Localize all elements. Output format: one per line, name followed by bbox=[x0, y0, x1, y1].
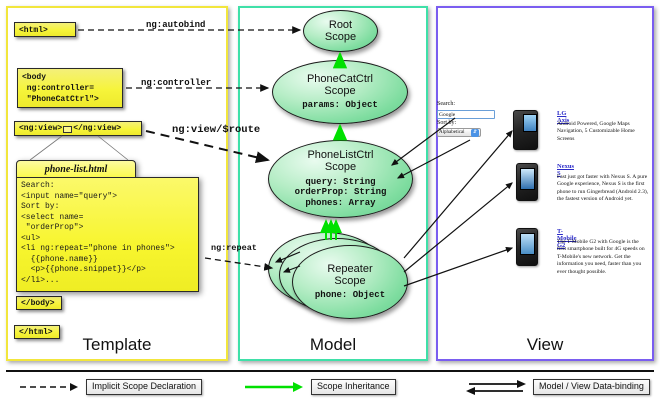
note-code: Search: <input name="query"> Sort by: <s… bbox=[16, 177, 199, 292]
search-label: Search: bbox=[437, 101, 499, 109]
legend-label-inheritance: Scope Inheritance bbox=[311, 379, 396, 395]
phone-snippet-0: Android Powered, Google Maps Navigation,… bbox=[557, 121, 649, 143]
phone-snippet-1: Fast just got faster with Nexus S. A pur… bbox=[557, 174, 649, 204]
code-tag-html-close: </html> bbox=[14, 325, 60, 339]
legend-item-implicit: Implicit Scope Declaration bbox=[18, 378, 202, 396]
chevron-updown-icon: ⇵ bbox=[471, 129, 479, 137]
scope-phonecatctrl: PhoneCatCtrl Scope params: Object bbox=[272, 60, 408, 124]
legend-divider bbox=[6, 370, 654, 372]
phone-snippet-2: The T-Mobile G2 with Google is the first… bbox=[557, 239, 649, 276]
scope-repeater-props: phone: Object bbox=[315, 290, 385, 301]
column-label-view: View bbox=[438, 335, 652, 355]
scope-phonelistctrl-title-2: Scope bbox=[325, 161, 356, 173]
scope-phonelistctrl-title-1: PhoneListCtrl bbox=[307, 149, 373, 161]
ng-view-slot-placeholder bbox=[63, 126, 72, 133]
connector-label-ng-controller: ng:controller bbox=[141, 78, 211, 88]
connector-label-ng-repeat: ng:repeat bbox=[211, 243, 257, 253]
note-title: phone-list.html bbox=[16, 160, 136, 178]
column-label-model: Model bbox=[240, 335, 426, 355]
scope-root-title-2: Scope bbox=[325, 31, 356, 43]
scope-repeater-title-1: Repeater bbox=[327, 263, 372, 275]
solid-arrow-icon bbox=[243, 379, 305, 395]
scope-repeater: Repeater Scope phone: Object bbox=[292, 245, 408, 319]
scope-repeater-stack: Repeater Scope phone: Object bbox=[268, 232, 416, 320]
scope-phonelistctrl: PhoneListCtrl Scope query: String orderP… bbox=[268, 140, 413, 218]
code-tag-body-close: </body> bbox=[16, 296, 62, 310]
legend-item-databinding: Model / View Data-binding bbox=[465, 378, 650, 396]
ng-view-open-label: <ng:view> bbox=[19, 124, 62, 135]
code-tag-html-open: <html> bbox=[14, 22, 76, 37]
legend-item-inheritance: Scope Inheritance bbox=[243, 378, 396, 396]
phone-thumbnail-2 bbox=[516, 228, 538, 266]
double-arrow-icon bbox=[465, 379, 527, 395]
view-search-widget: Search: Google Sort by: Alphabetical ⇵ bbox=[437, 101, 499, 137]
connector-label-ng-autobind: ng:autobind bbox=[146, 20, 205, 30]
sort-label: Sort by: bbox=[437, 120, 499, 128]
legend-label-databinding: Model / View Data-binding bbox=[533, 379, 650, 395]
scope-root-title-1: Root bbox=[329, 19, 352, 31]
phone-thumbnail-0 bbox=[513, 110, 538, 150]
scope-root: Root Scope bbox=[303, 10, 378, 52]
scope-phonecatctrl-title-2: Scope bbox=[324, 85, 355, 97]
scope-phonecatctrl-props: params: Object bbox=[302, 100, 378, 111]
connector-label-ng-view-route: ng:view/$route bbox=[172, 124, 260, 136]
dashed-arrow-icon bbox=[18, 379, 80, 395]
code-tag-ng-view: <ng:view></ng:view> bbox=[14, 121, 142, 136]
legend-label-implicit: Implicit Scope Declaration bbox=[86, 379, 202, 395]
ng-view-close-label: </ng:view> bbox=[73, 124, 121, 135]
template-note-phone-list: phone-list.html Search: <input name="que… bbox=[16, 160, 199, 292]
code-tag-body-open: <body ng:controller= "PhoneCatCtrl"> bbox=[17, 68, 123, 108]
scope-phonelistctrl-props: query: String orderProp: String phones: … bbox=[295, 177, 387, 209]
phone-thumbnail-1 bbox=[516, 163, 538, 201]
sort-select-value: Alphabetical bbox=[439, 129, 465, 137]
legend: Implicit Scope Declaration Scope Inherit… bbox=[0, 370, 660, 405]
sort-select[interactable]: Alphabetical ⇵ bbox=[437, 128, 481, 137]
scope-phonecatctrl-title-1: PhoneCatCtrl bbox=[307, 73, 373, 85]
scope-repeater-title-2: Scope bbox=[334, 275, 365, 287]
search-input[interactable]: Google bbox=[437, 110, 495, 119]
